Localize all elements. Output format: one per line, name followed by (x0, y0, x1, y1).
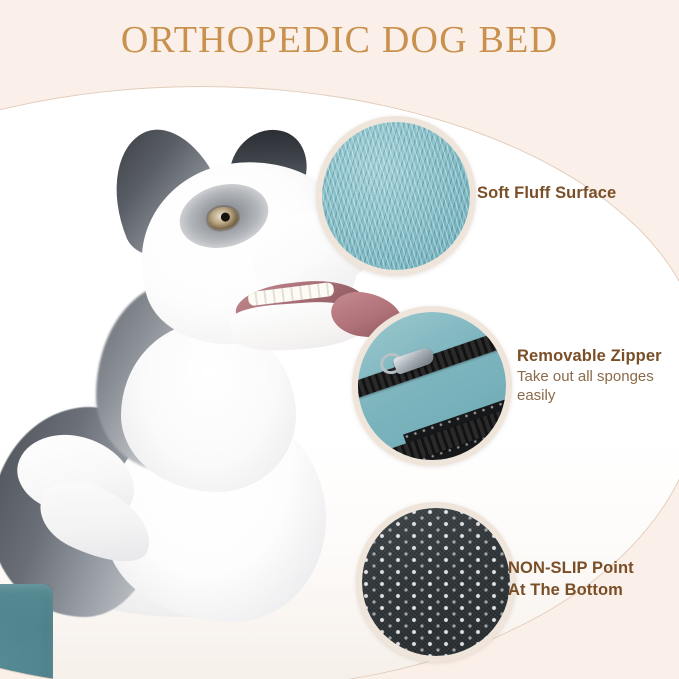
callout-label-removable-zipper: Removable Zipper Take out all sponges ea… (517, 345, 662, 406)
callout-heading: Soft Fluff Surface (477, 182, 616, 204)
callout-subtext-line1: Take out all sponges (517, 367, 662, 386)
fluff-texture-swatch-icon (316, 116, 476, 276)
callout-heading-line2: At The Bottom (508, 579, 634, 601)
non-slip-dots-swatch-icon (356, 502, 516, 662)
fluff-texture-fill (322, 122, 470, 270)
dog-bed (0, 482, 81, 679)
callout-subtext-line2: easily (517, 386, 662, 405)
bed-base-cushion (0, 584, 53, 679)
callout-label-soft-fluff: Soft Fluff Surface (477, 182, 616, 204)
page-title: ORTHOPEDIC DOG BED (0, 18, 679, 62)
callout-heading: Removable Zipper (517, 345, 662, 367)
zipper-closeup-swatch-icon (352, 306, 512, 466)
callout-label-non-slip: NON-SLIP Point At The Bottom (508, 557, 634, 602)
non-slip-dots-fill (362, 508, 510, 656)
infographic-canvas: ORTHOPEDIC DOG BED (0, 0, 679, 679)
callout-heading-line1: NON-SLIP Point (508, 557, 634, 579)
bed-base-texture (0, 584, 53, 679)
